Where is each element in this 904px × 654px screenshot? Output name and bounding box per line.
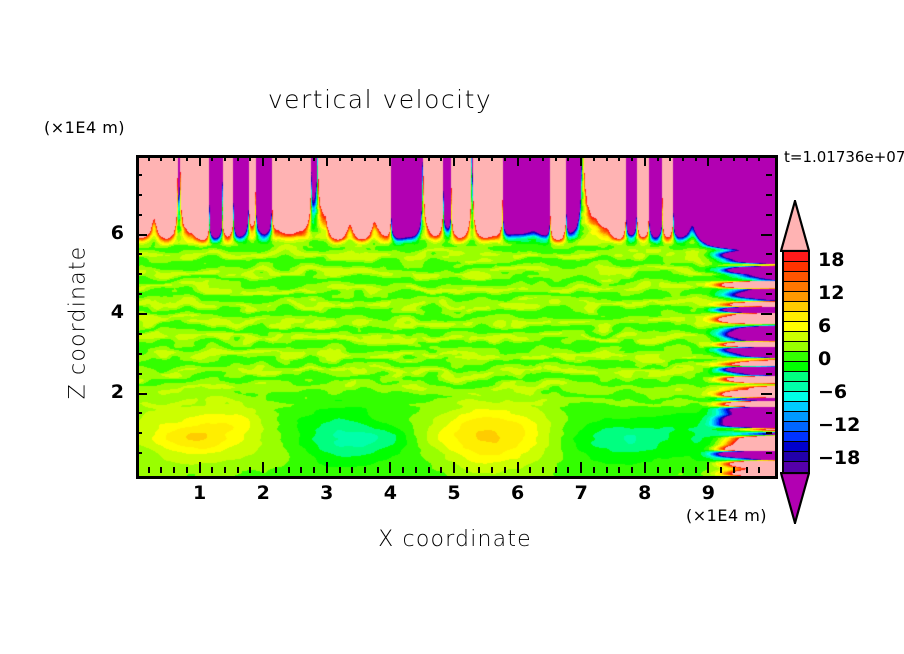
x-axis-major-tick bbox=[707, 462, 709, 473]
colorbar-band bbox=[784, 422, 808, 432]
x-axis-minor-tick bbox=[669, 155, 671, 161]
x-axis-tick-label: 3 bbox=[307, 482, 347, 504]
x-axis-major-tick bbox=[389, 462, 391, 473]
x-axis-unit-label: (×1E4 m) bbox=[686, 506, 767, 525]
x-axis-minor-tick bbox=[478, 155, 480, 161]
colorbar-tick-label: −12 bbox=[818, 414, 860, 436]
x-axis-minor-tick bbox=[249, 467, 251, 473]
colorbar-band bbox=[784, 432, 808, 442]
y-axis-minor-tick bbox=[136, 194, 142, 196]
page-title: vertical velocity bbox=[0, 85, 760, 114]
x-axis-major-tick bbox=[453, 462, 455, 473]
x-axis-tick-label: 1 bbox=[180, 482, 220, 504]
x-axis-major-tick bbox=[199, 462, 201, 473]
x-axis-minor-tick bbox=[351, 467, 353, 473]
x-axis-minor-tick bbox=[720, 155, 722, 161]
x-axis-tick-label: 6 bbox=[498, 482, 538, 504]
x-axis-minor-tick bbox=[402, 467, 404, 473]
x-axis-minor-tick bbox=[504, 467, 506, 473]
colorbar-bands bbox=[782, 250, 810, 474]
x-axis-minor-tick bbox=[618, 155, 620, 161]
x-axis-minor-tick bbox=[224, 467, 226, 473]
x-axis-major-tick-top bbox=[389, 155, 391, 166]
y-axis-major-tick bbox=[136, 313, 147, 315]
colorbar-band bbox=[784, 302, 808, 312]
y-axis-minor-tick bbox=[766, 174, 772, 176]
x-axis-minor-tick bbox=[313, 155, 315, 161]
x-axis-minor-tick bbox=[631, 467, 633, 473]
x-axis-minor-tick bbox=[339, 467, 341, 473]
x-axis-minor-tick bbox=[415, 467, 417, 473]
y-axis-minor-tick bbox=[136, 432, 142, 434]
x-axis-tick-label: 9 bbox=[688, 482, 728, 504]
colorbar-tick-label: 12 bbox=[818, 282, 844, 304]
x-axis-minor-tick bbox=[211, 467, 213, 473]
x-axis-minor-tick bbox=[593, 155, 595, 161]
x-axis-minor-tick bbox=[300, 155, 302, 161]
x-axis-minor-tick bbox=[669, 467, 671, 473]
y-axis-minor-tick bbox=[136, 373, 142, 375]
x-axis-minor-tick bbox=[746, 155, 748, 161]
contour-field bbox=[139, 158, 775, 476]
x-axis-minor-tick bbox=[555, 467, 557, 473]
x-axis-minor-tick bbox=[478, 467, 480, 473]
y-axis-tick-label: 6 bbox=[90, 222, 124, 244]
x-axis-major-tick-top bbox=[580, 155, 582, 166]
colorbar-band bbox=[784, 322, 808, 332]
x-axis-minor-tick bbox=[746, 467, 748, 473]
x-axis-minor-tick bbox=[657, 155, 659, 161]
y-axis-minor-tick bbox=[136, 333, 142, 335]
x-axis-title: X coordinate bbox=[135, 527, 775, 552]
x-axis-minor-tick bbox=[466, 155, 468, 161]
colorbar-band bbox=[784, 342, 808, 352]
x-axis-minor-tick bbox=[300, 467, 302, 473]
x-axis-minor-tick bbox=[504, 155, 506, 161]
x-axis-major-tick bbox=[262, 462, 264, 473]
colorbar-bottom-arrow-icon bbox=[780, 472, 810, 524]
x-axis-minor-tick bbox=[173, 155, 175, 161]
y-axis-unit-label: (×1E4 m) bbox=[44, 118, 125, 137]
y-axis-minor-tick bbox=[136, 174, 142, 176]
y-axis-minor-tick bbox=[136, 273, 142, 275]
x-axis-minor-tick bbox=[720, 467, 722, 473]
y-axis-tick-label: 4 bbox=[90, 301, 124, 323]
x-axis-major-tick-top bbox=[707, 155, 709, 166]
x-axis-tick-label: 7 bbox=[561, 482, 601, 504]
y-axis-title: Z coordinate bbox=[66, 223, 91, 423]
x-axis-minor-tick bbox=[542, 155, 544, 161]
colorbar-tick-label: 0 bbox=[818, 348, 831, 370]
x-axis-major-tick bbox=[644, 462, 646, 473]
timestamp-annotation: t=1.01736e+07 bbox=[784, 148, 904, 166]
colorbar-band bbox=[784, 332, 808, 342]
colorbar-band bbox=[784, 292, 808, 302]
x-axis-minor-tick bbox=[657, 467, 659, 473]
colorbar-band bbox=[784, 282, 808, 292]
x-axis-major-tick bbox=[517, 462, 519, 473]
x-axis-minor-tick bbox=[758, 467, 760, 473]
y-axis-major-tick bbox=[136, 393, 147, 395]
contour-plot-area bbox=[136, 155, 778, 479]
y-axis-minor-tick bbox=[136, 412, 142, 414]
colorbar-band bbox=[784, 262, 808, 272]
x-axis-tick-label: 4 bbox=[370, 482, 410, 504]
colorbar-band bbox=[784, 372, 808, 382]
x-axis-minor-tick bbox=[606, 467, 608, 473]
colorbar-band bbox=[784, 462, 808, 472]
x-axis-minor-tick bbox=[440, 155, 442, 161]
x-axis-minor-tick bbox=[377, 155, 379, 161]
y-axis-tick-label: 2 bbox=[90, 381, 124, 403]
x-axis-minor-tick bbox=[160, 467, 162, 473]
colorbar-band bbox=[784, 352, 808, 362]
x-axis-major-tick-top bbox=[453, 155, 455, 166]
x-axis-major-tick-top bbox=[199, 155, 201, 166]
x-axis-tick-label: 2 bbox=[243, 482, 283, 504]
x-axis-minor-tick bbox=[593, 467, 595, 473]
colorbar-tick-label: 6 bbox=[818, 315, 831, 337]
x-axis-minor-tick bbox=[364, 155, 366, 161]
x-axis-minor-tick bbox=[249, 155, 251, 161]
colorbar-band bbox=[784, 272, 808, 282]
x-axis-minor-tick bbox=[618, 467, 620, 473]
x-axis-minor-tick bbox=[606, 155, 608, 161]
y-axis-minor-tick bbox=[136, 353, 142, 355]
x-axis-minor-tick bbox=[682, 155, 684, 161]
x-axis-major-tick bbox=[326, 462, 328, 473]
x-axis-minor-tick bbox=[733, 467, 735, 473]
x-axis-minor-tick bbox=[224, 155, 226, 161]
colorbar: 181260−6−12−18 bbox=[770, 200, 904, 530]
x-axis-minor-tick bbox=[695, 155, 697, 161]
x-axis-minor-tick bbox=[275, 155, 277, 161]
x-axis-minor-tick bbox=[377, 467, 379, 473]
x-axis-minor-tick bbox=[695, 467, 697, 473]
colorbar-band bbox=[784, 252, 808, 262]
x-axis-minor-tick bbox=[402, 155, 404, 161]
x-axis-minor-tick bbox=[148, 155, 150, 161]
x-axis-major-tick-top bbox=[326, 155, 328, 166]
x-axis-major-tick-top bbox=[644, 155, 646, 166]
x-axis-minor-tick bbox=[567, 155, 569, 161]
x-axis-minor-tick bbox=[631, 155, 633, 161]
y-axis-minor-tick bbox=[136, 253, 142, 255]
colorbar-band bbox=[784, 402, 808, 412]
x-axis-minor-tick bbox=[466, 467, 468, 473]
x-axis-minor-tick bbox=[428, 467, 430, 473]
x-axis-minor-tick bbox=[160, 155, 162, 161]
colorbar-tick-label: 18 bbox=[818, 249, 844, 271]
colorbar-tick-label: −6 bbox=[818, 381, 847, 403]
x-axis-minor-tick bbox=[148, 467, 150, 473]
colorbar-band bbox=[784, 382, 808, 392]
x-axis-minor-tick bbox=[237, 467, 239, 473]
x-axis-minor-tick bbox=[364, 467, 366, 473]
x-axis-minor-tick bbox=[567, 467, 569, 473]
x-axis-minor-tick bbox=[758, 155, 760, 161]
x-axis-minor-tick bbox=[237, 155, 239, 161]
x-axis-tick-label: 8 bbox=[625, 482, 665, 504]
x-axis-major-tick-top bbox=[517, 155, 519, 166]
y-axis-minor-tick bbox=[136, 293, 142, 295]
x-axis-tick-label: 5 bbox=[434, 482, 474, 504]
x-axis-minor-tick bbox=[288, 155, 290, 161]
x-axis-minor-tick bbox=[491, 155, 493, 161]
x-axis-minor-tick bbox=[542, 467, 544, 473]
colorbar-band bbox=[784, 312, 808, 322]
colorbar-band bbox=[784, 392, 808, 402]
x-axis-major-tick bbox=[580, 462, 582, 473]
x-axis-minor-tick bbox=[173, 467, 175, 473]
x-axis-minor-tick bbox=[313, 467, 315, 473]
x-axis-minor-tick bbox=[428, 155, 430, 161]
colorbar-band bbox=[784, 442, 808, 452]
x-axis-minor-tick bbox=[491, 467, 493, 473]
x-axis-minor-tick bbox=[733, 155, 735, 161]
colorbar-band bbox=[784, 412, 808, 422]
x-axis-minor-tick bbox=[275, 467, 277, 473]
colorbar-top-arrow-icon bbox=[780, 200, 810, 252]
x-axis-minor-tick bbox=[339, 155, 341, 161]
x-axis-minor-tick bbox=[351, 155, 353, 161]
colorbar-tick-label: −18 bbox=[818, 447, 860, 469]
x-axis-minor-tick bbox=[186, 467, 188, 473]
x-axis-major-tick-top bbox=[262, 155, 264, 166]
y-axis-minor-tick bbox=[136, 214, 142, 216]
x-axis-minor-tick bbox=[415, 155, 417, 161]
x-axis-minor-tick bbox=[440, 467, 442, 473]
x-axis-minor-tick bbox=[211, 155, 213, 161]
y-axis-minor-tick bbox=[136, 452, 142, 454]
x-axis-minor-tick bbox=[529, 467, 531, 473]
x-axis-minor-tick bbox=[555, 155, 557, 161]
x-axis-minor-tick bbox=[529, 155, 531, 161]
x-axis-minor-tick bbox=[682, 467, 684, 473]
y-axis-minor-tick bbox=[766, 194, 772, 196]
x-axis-minor-tick bbox=[186, 155, 188, 161]
colorbar-band bbox=[784, 362, 808, 372]
x-axis-minor-tick bbox=[288, 467, 290, 473]
colorbar-band bbox=[784, 452, 808, 462]
y-axis-major-tick bbox=[136, 234, 147, 236]
